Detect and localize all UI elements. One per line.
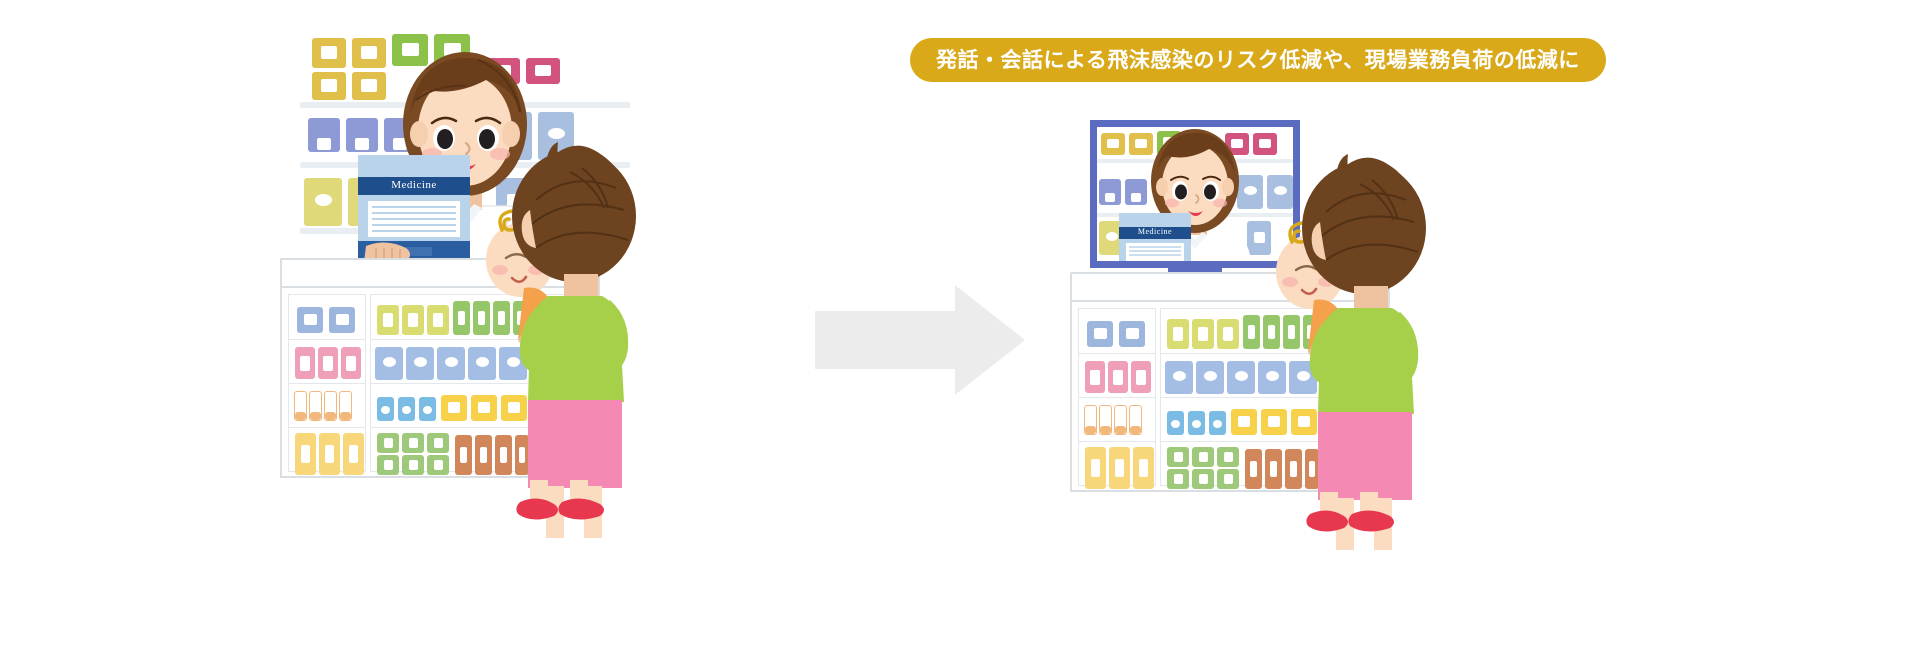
shelf-box [402, 433, 424, 453]
shelf-box [453, 301, 470, 335]
shelf-box [343, 433, 364, 475]
customer-with-baby-right [1268, 150, 1438, 520]
shelf-box [406, 347, 434, 380]
shelf-box [427, 305, 449, 335]
shelf-box [1087, 321, 1113, 347]
shelf-box [437, 347, 465, 380]
illustration-canvas: 発話・会話による飛沫感染のリスク低減や、現場業務負荷の低減に [0, 0, 1920, 648]
shelf-box [1217, 447, 1239, 467]
shelf-bottle [324, 391, 337, 421]
shelf-bottle [339, 391, 352, 421]
shelf-box [455, 435, 472, 475]
customer-shoes-right [1308, 492, 1428, 542]
shelf-box [1192, 319, 1214, 349]
shelf-box [1131, 361, 1151, 393]
shelf-box [1165, 361, 1193, 394]
shelf-box [1119, 321, 1145, 347]
shelf-box [1167, 447, 1189, 467]
shelf-box [1217, 319, 1239, 349]
customer-shoes-left [518, 480, 638, 530]
shelf-box [427, 455, 449, 475]
shelf-box [1227, 361, 1255, 394]
shelf-box [377, 305, 399, 335]
shelf-box [329, 307, 355, 333]
monitor-screen: Medicine [1097, 127, 1293, 261]
shelf-box [1217, 469, 1239, 489]
shelf-box [1109, 447, 1130, 489]
customer-with-baby-left [478, 138, 648, 508]
shelf-box [319, 433, 340, 475]
shelf-box [1101, 133, 1125, 155]
shelf-box [1231, 409, 1257, 435]
counter-bay [288, 294, 366, 472]
shelf-bottle [1084, 405, 1097, 435]
counter-bay [1078, 308, 1156, 486]
shelf-box [1167, 319, 1189, 349]
shelf-box [304, 178, 342, 226]
shelf-box [377, 433, 399, 453]
shelf-box [427, 433, 449, 453]
shelf-box [312, 38, 346, 68]
shelf-box [1108, 361, 1128, 393]
shelf-box [297, 307, 323, 333]
shelf-jar [1188, 411, 1205, 435]
shelf-box [1133, 447, 1154, 489]
shelf-box [312, 72, 346, 100]
shelf-box [402, 305, 424, 335]
shelf-box [1085, 447, 1106, 489]
shelf-box [318, 347, 338, 379]
shelf-box [1099, 179, 1121, 205]
shelf-box [402, 455, 424, 475]
shelf-bottle [1129, 405, 1142, 435]
shelf-bottle [309, 391, 322, 421]
shelf-jar [419, 397, 436, 421]
shelf-jar [377, 397, 394, 421]
shelf-box [295, 433, 316, 475]
shelf-bottle [1099, 405, 1112, 435]
shelf-box [441, 395, 467, 421]
medicine-box-label: Medicine [358, 179, 470, 191]
shelf-box [1245, 449, 1262, 489]
shelf-box [1196, 361, 1224, 394]
shelf-bottle [294, 391, 307, 421]
scene-in-person: Medicine [300, 0, 820, 648]
medicine-box-right: Medicine [1119, 213, 1191, 261]
scene-remote-video: Medicine [1080, 0, 1600, 648]
shelf-box [1192, 447, 1214, 467]
shelf-jar [1167, 411, 1184, 435]
shelf-bottle [1114, 405, 1127, 435]
shelf-box [295, 347, 315, 379]
shelf-box [341, 347, 361, 379]
shelf-jar [1209, 411, 1226, 435]
transition-arrow [815, 285, 1025, 395]
shelf-box [375, 347, 403, 380]
shelf-box [1192, 469, 1214, 489]
shelf-jar [398, 397, 415, 421]
shelf-box [1085, 361, 1105, 393]
shelf-box [1243, 315, 1260, 349]
shelf-box [1167, 469, 1189, 489]
medicine-box-label-right: Medicine [1119, 227, 1191, 236]
shelf-box [308, 118, 340, 152]
shelf-box [377, 455, 399, 475]
